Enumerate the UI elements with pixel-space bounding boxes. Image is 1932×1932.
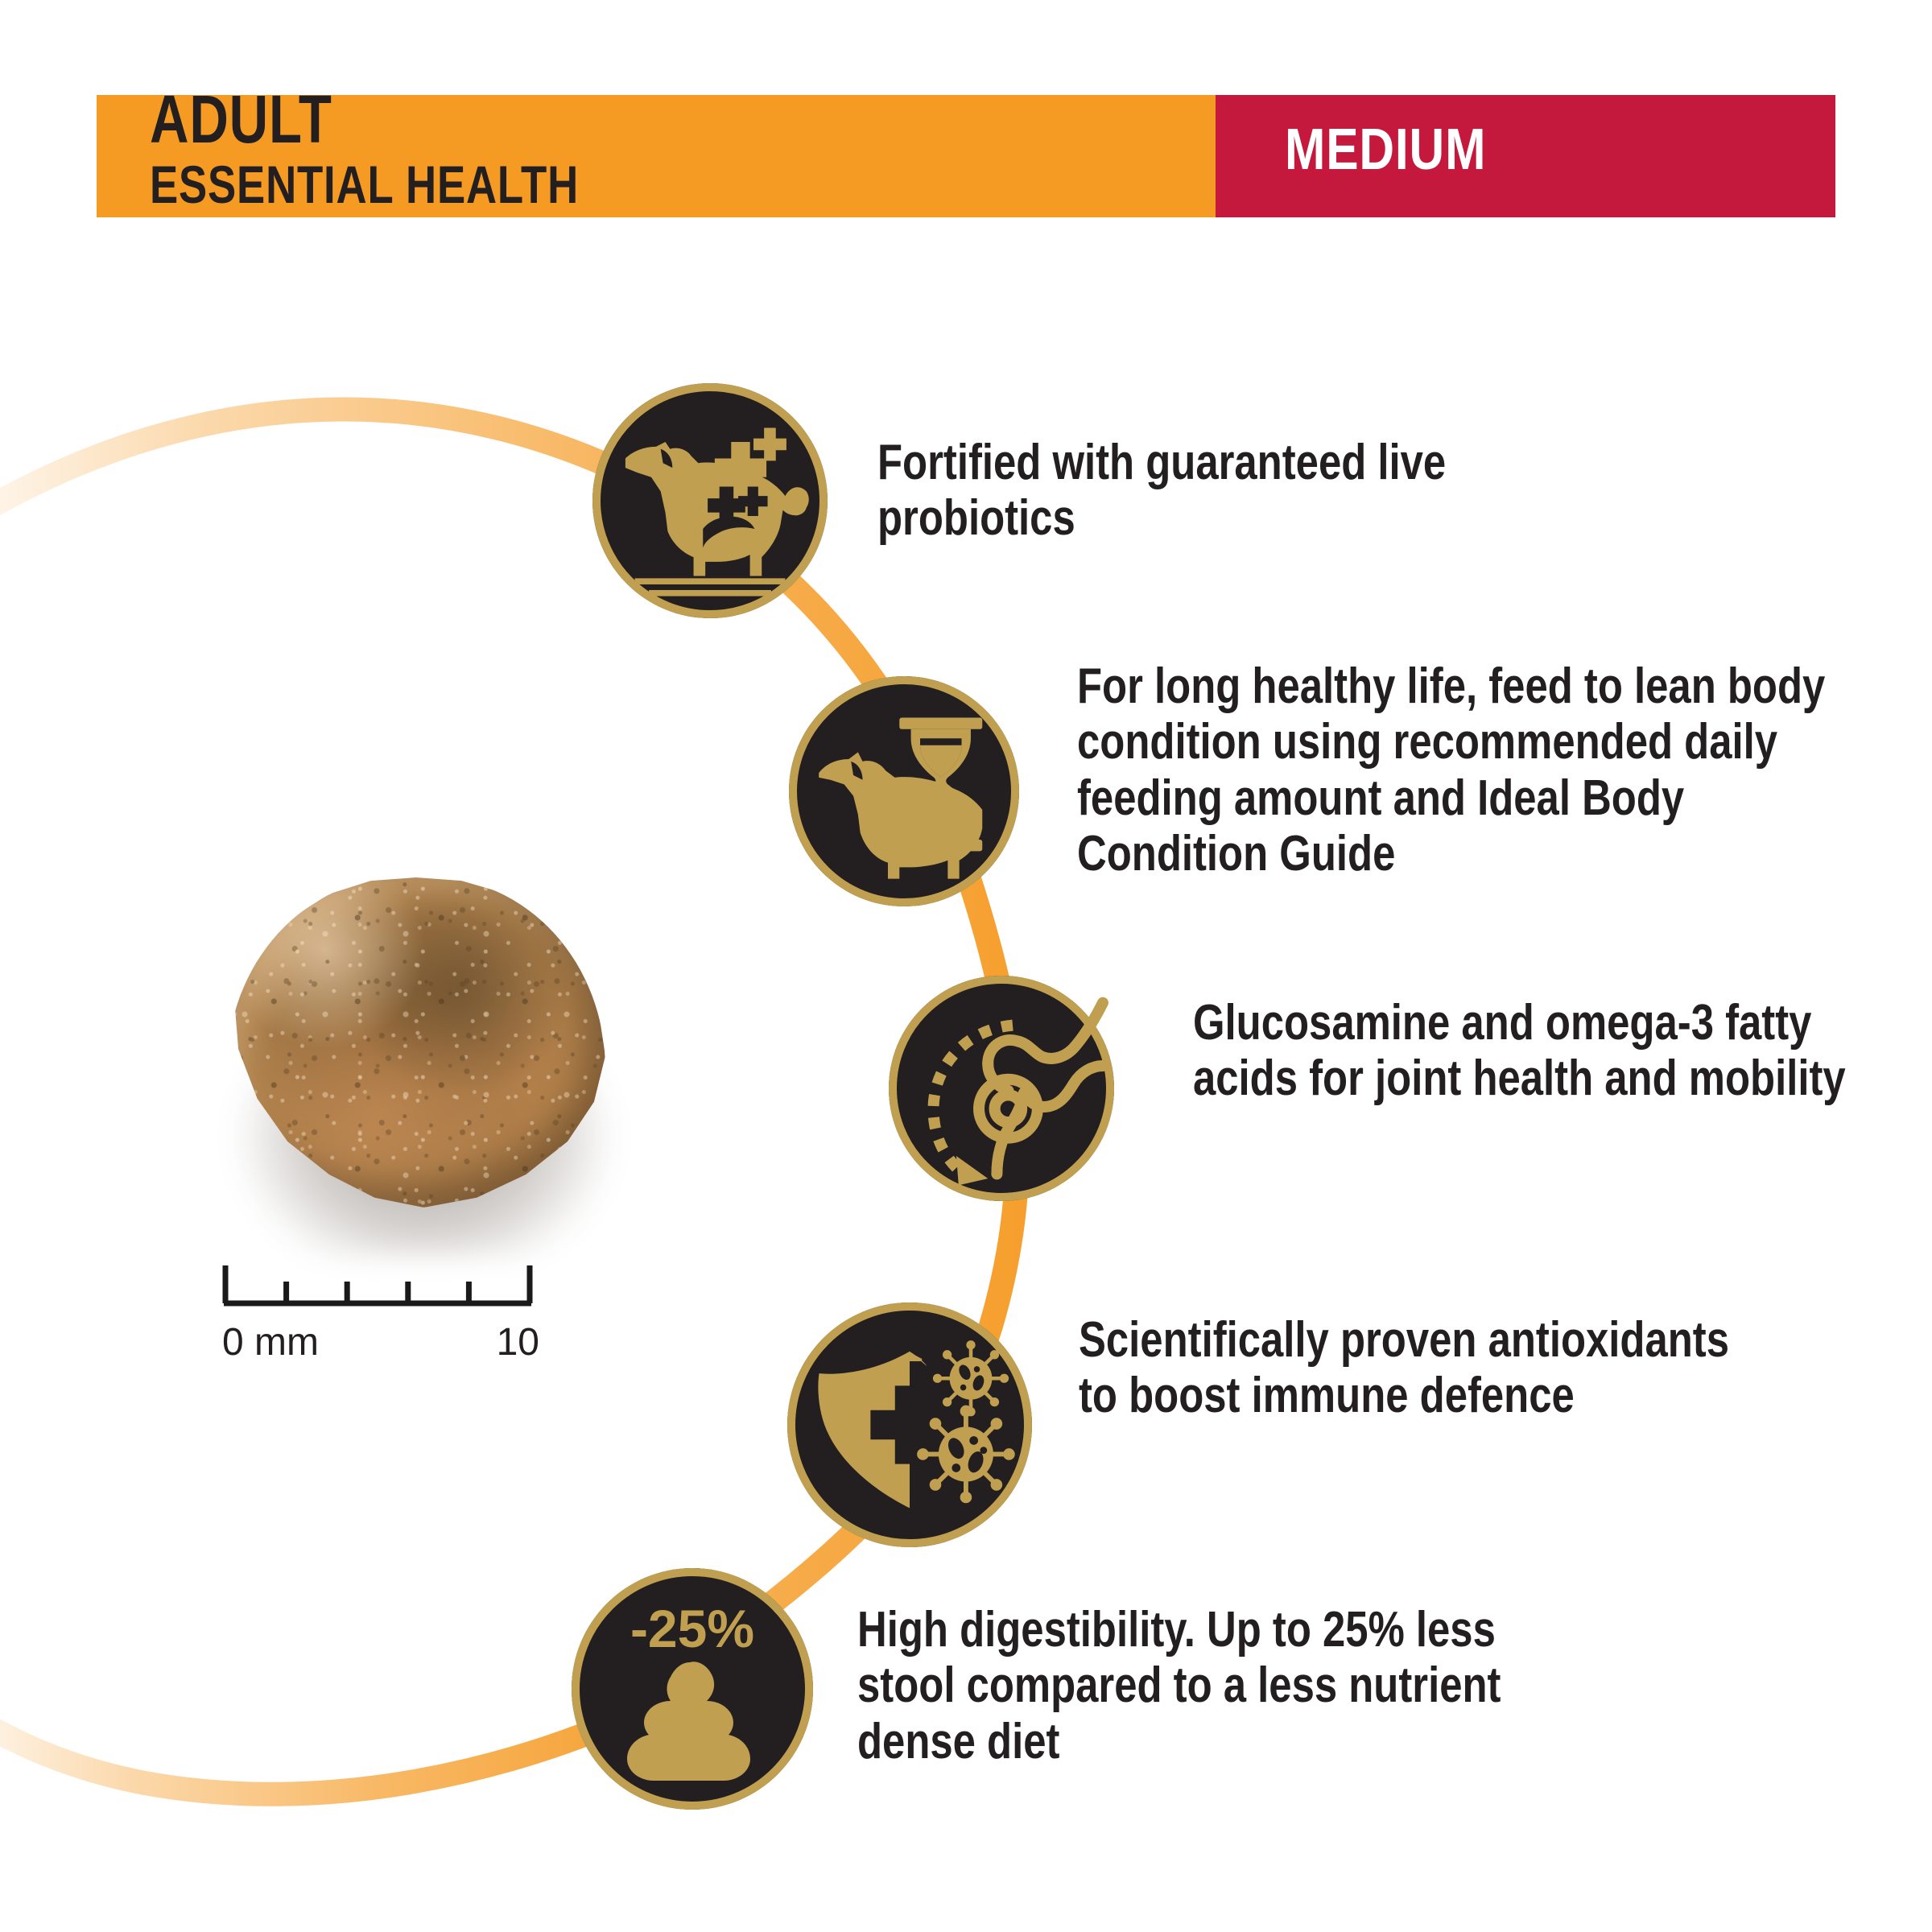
header-size-block: MEDIUM (1216, 95, 1835, 217)
ruler-end-label: 10 (497, 1323, 539, 1362)
page-title: ADULT (150, 85, 332, 153)
benefit-text-joint-health: Glucosamine and omega-3 fatty acids for … (1193, 995, 1853, 1107)
size-scale-ruler: 0 mm 10 (221, 1257, 535, 1386)
badge-percent-label: -25% (572, 1602, 813, 1655)
benefit-icon-lean-body-condition (789, 676, 1019, 906)
page-subtitle: ESSENTIAL HEALTH (150, 158, 579, 211)
benefit-icon-immune-defence (787, 1302, 1032, 1547)
benefit-icon-joint-health (889, 976, 1114, 1201)
badge-ring (789, 676, 1019, 906)
kibble-photo (211, 869, 630, 1232)
ruler-start-label: 0 mm (222, 1323, 319, 1362)
header-banner: ADULT ESSENTIAL HEALTH MEDIUM (97, 95, 1835, 217)
ruler-ticks (221, 1257, 535, 1322)
benefit-text-digestibility: High digestibility. Up to 25% less stool… (857, 1602, 1517, 1769)
product-feature-panel: ADULT ESSENTIAL HEALTH MEDIUM (0, 0, 1932, 1932)
badge-ring (889, 976, 1114, 1201)
badge-ring (592, 383, 828, 618)
benefit-icon-digestibility: -25% (572, 1568, 813, 1810)
badge-ring (787, 1302, 1032, 1547)
benefit-text-lean-body-condition: For long healthy life, feed to lean body… (1077, 658, 1856, 882)
benefit-text-immune-defence: Scientifically proven antioxidants to bo… (1079, 1312, 1752, 1424)
benefit-text-probiotics: Fortified with guaranteed live probiotic… (877, 435, 1525, 547)
header-lifestage-block: ADULT ESSENTIAL HEALTH (97, 95, 1216, 217)
size-badge-label: MEDIUM (1285, 121, 1486, 179)
benefit-icon-probiotics (592, 383, 828, 618)
